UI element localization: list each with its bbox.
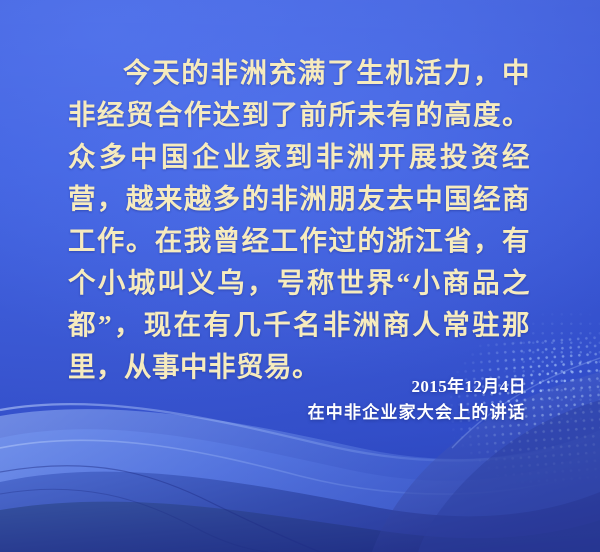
attribution-occasion: 在中非企业家大会上的讲话 — [196, 400, 526, 426]
quote-body-text: 今天的非洲充满了生机活力，中非经贸合作达到了前所未有的高度。众多中国企业家到非洲… — [68, 52, 530, 388]
quote-card: 今天的非洲充满了生机活力，中非经贸合作达到了前所未有的高度。众多中国企业家到非洲… — [0, 0, 600, 552]
attribution-date: 2015年12月4日 — [196, 374, 526, 400]
attribution-block: 2015年12月4日 在中非企业家大会上的讲话 — [196, 374, 526, 426]
